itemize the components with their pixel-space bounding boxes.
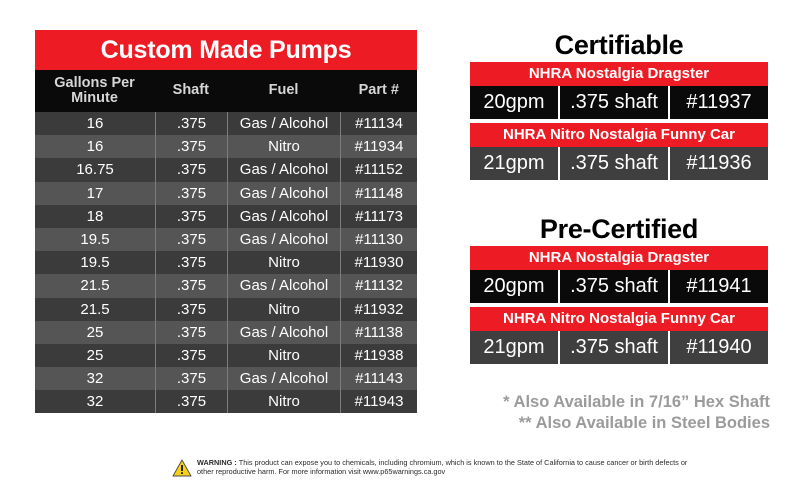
cell-shaft: .375 shaft [558,270,668,303]
table-row: 32.375Gas / Alcohol#11143 [35,367,417,390]
cell-fuel: Nitro [227,135,340,158]
cell-shaft: .375 [155,228,227,251]
certifiable-title: Certifiable [470,28,768,62]
cell-part: #11148 [340,182,417,205]
certifiable-funnycar-header: NHRA Nitro Nostalgia Funny Car [470,123,768,147]
cell-fuel: Nitro [227,344,340,367]
cell-part: #11130 [340,228,417,251]
cell-shaft: .375 [155,135,227,158]
cell-gpm: 20gpm [470,270,558,303]
main-table-body: 16.375Gas / Alcohol#1113416.375Nitro#119… [35,112,417,413]
cell-gpm: 16.75 [35,158,155,181]
table-row: 17.375Gas / Alcohol#11148 [35,182,417,205]
cell-gpm: 21gpm [470,331,558,364]
cell-fuel: Gas / Alcohol [227,321,340,344]
column-header-fuel: Fuel [227,70,340,112]
warning-triangle-icon [172,459,192,482]
table-row: 21.5.375Nitro#11932 [35,298,417,321]
column-header-part: Part # [340,70,417,112]
main-table-header-row: Gallons Per Minute Shaft Fuel Part # [35,70,417,112]
cell-part: #11143 [340,367,417,390]
warning-label: WARNING : [197,458,239,467]
cell-fuel: Gas / Alcohol [227,228,340,251]
cell-gpm: 21.5 [35,298,155,321]
certifiable-section: Certifiable NHRA Nostalgia Dragster 20gp… [470,28,768,180]
cell-gpm: 17 [35,182,155,205]
cell-fuel: Nitro [227,251,340,274]
cell-fuel: Gas / Alcohol [227,158,340,181]
cell-shaft: .375 [155,321,227,344]
cell-part: #11943 [340,390,417,413]
cell-part: #11138 [340,321,417,344]
cell-gpm: 20gpm [470,86,558,119]
precertified-funnycar-row: 21gpm .375 shaft #11940 [470,331,768,364]
prop65-warning: WARNING : This product can expose you to… [172,458,697,482]
certifiable-funnycar-row: 21gpm .375 shaft #11936 [470,147,768,180]
column-header-gpm-line2: Minute [71,90,118,106]
cell-shaft: .375 [155,298,227,321]
precertified-section: Pre-Certified NHRA Nostalgia Dragster 20… [470,212,768,364]
certifiable-group-funny-car: NHRA Nitro Nostalgia Funny Car 21gpm .37… [470,123,768,180]
column-header-shaft: Shaft [154,70,226,112]
cell-fuel: Gas / Alcohol [227,367,340,390]
cell-gpm: 21.5 [35,274,155,297]
cell-gpm: 16 [35,112,155,135]
cell-shaft: .375 [155,205,227,228]
cell-part: #11932 [340,298,417,321]
cell-part: #11173 [340,205,417,228]
precertified-funnycar-header: NHRA Nitro Nostalgia Funny Car [470,307,768,331]
precertified-group-funny-car: NHRA Nitro Nostalgia Funny Car 21gpm .37… [470,307,768,364]
table-row: 19.5.375Gas / Alcohol#11130 [35,228,417,251]
cell-fuel: Nitro [227,298,340,321]
cell-part: #11941 [668,270,768,303]
table-row: 32.375Nitro#11943 [35,390,417,413]
cell-gpm: 25 [35,321,155,344]
cell-shaft: .375 shaft [558,331,668,364]
precertified-title: Pre-Certified [470,212,768,246]
cell-gpm: 32 [35,390,155,413]
cell-gpm: 16 [35,135,155,158]
column-header-gpm: Gallons Per Minute [35,70,154,112]
footnote-steel-bodies: ** Also Available in Steel Bodies [440,413,770,434]
cell-part: #11930 [340,251,417,274]
table-row: 16.75.375Gas / Alcohol#11152 [35,158,417,181]
precertified-dragster-row: 20gpm .375 shaft #11941 [470,270,768,303]
cell-shaft: .375 [155,344,227,367]
table-row: 25.375Nitro#11938 [35,344,417,367]
precertified-group-dragster: NHRA Nostalgia Dragster 20gpm .375 shaft… [470,246,768,303]
cell-part: #11132 [340,274,417,297]
cell-part: #11938 [340,344,417,367]
certifiable-group-dragster: NHRA Nostalgia Dragster 20gpm .375 shaft… [470,62,768,119]
custom-made-pumps-table: Custom Made Pumps Gallons Per Minute Sha… [35,30,417,413]
cell-gpm: 32 [35,367,155,390]
cell-gpm: 19.5 [35,228,155,251]
certifiable-dragster-header: NHRA Nostalgia Dragster [470,62,768,86]
cell-shaft: .375 shaft [558,147,668,180]
cell-part: #11134 [340,112,417,135]
cell-shaft: .375 [155,112,227,135]
cell-gpm: 18 [35,205,155,228]
cell-shaft: .375 [155,182,227,205]
cell-fuel: Gas / Alcohol [227,112,340,135]
cell-part: #11940 [668,331,768,364]
table-row: 16.375Gas / Alcohol#11134 [35,112,417,135]
cell-shaft: .375 [155,274,227,297]
cell-part: #11934 [340,135,417,158]
warning-text: WARNING : This product can expose you to… [197,458,697,477]
certifiable-dragster-row: 20gpm .375 shaft #11937 [470,86,768,119]
table-row: 21.5.375Gas / Alcohol#11132 [35,274,417,297]
footnotes: * Also Available in 7/16” Hex Shaft ** A… [440,392,770,434]
table-row: 18.375Gas / Alcohol#11173 [35,205,417,228]
cell-fuel: Gas / Alcohol [227,274,340,297]
precertified-dragster-header: NHRA Nostalgia Dragster [470,246,768,270]
main-table-title: Custom Made Pumps [35,30,417,70]
table-row: 19.5.375Nitro#11930 [35,251,417,274]
cell-part: #11152 [340,158,417,181]
cell-shaft: .375 shaft [558,86,668,119]
table-row: 16.375Nitro#11934 [35,135,417,158]
cell-fuel: Gas / Alcohol [227,182,340,205]
warning-body: This product can expose you to chemicals… [197,458,687,476]
cell-shaft: .375 [155,367,227,390]
cell-fuel: Nitro [227,390,340,413]
table-row: 25.375Gas / Alcohol#11138 [35,321,417,344]
cell-shaft: .375 [155,158,227,181]
column-header-gpm-line1: Gallons Per [54,75,135,91]
cell-shaft: .375 [155,390,227,413]
cell-gpm: 25 [35,344,155,367]
cell-shaft: .375 [155,251,227,274]
cell-gpm: 21gpm [470,147,558,180]
cell-part: #11936 [668,147,768,180]
cell-part: #11937 [668,86,768,119]
cell-gpm: 19.5 [35,251,155,274]
footnote-hex-shaft: * Also Available in 7/16” Hex Shaft [440,392,770,413]
cell-fuel: Gas / Alcohol [227,205,340,228]
